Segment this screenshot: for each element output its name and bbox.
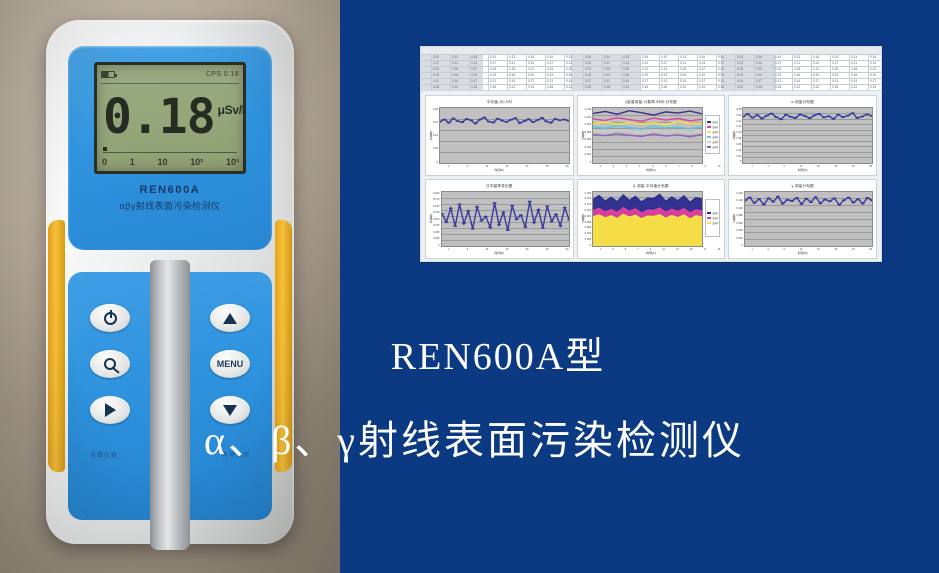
chart-data-point [523, 226, 527, 228]
spreadsheet-cell: 0.11 [547, 79, 553, 83]
spreadsheet-cell: 0.18 [604, 85, 610, 89]
chart-y-tick: 0.140 [585, 203, 592, 206]
chart-data-point [780, 202, 784, 204]
chart-legend-item: 道址1 [707, 211, 718, 215]
spreadsheet-cell: 0.16 [566, 73, 572, 77]
chart-y-tick: 0.15 [433, 121, 438, 124]
spreadsheet-cell: 0.12 [699, 67, 705, 71]
spreadsheet-cell: 0.14 [870, 61, 876, 65]
chart-data-point [851, 201, 855, 203]
chart-data-point [809, 201, 813, 203]
spreadsheet-row-line [421, 90, 881, 91]
spreadsheet-cell: 0.12 [737, 85, 743, 89]
chart-data-point [827, 115, 831, 117]
chart-data-point [487, 121, 491, 123]
chart-data-point [482, 117, 486, 119]
chart-legend-swatch [707, 126, 711, 129]
spreadsheet-cell: 0.18 [623, 67, 629, 71]
spreadsheet-cell: 0.13 [718, 73, 724, 77]
spreadsheet-cell: 0.17 [471, 79, 477, 83]
chart-data-point [491, 122, 495, 124]
chart-data-point [549, 122, 553, 124]
spreadsheet-cell: 0.16 [509, 73, 515, 77]
spreadsheet-cell: 0.10 [699, 73, 705, 77]
chart-data-point [444, 221, 448, 223]
spreadsheet-cell: 0.12 [452, 85, 458, 89]
spreadsheet-cell: 0.16 [623, 73, 629, 77]
spreadsheet-cell: 0.12 [756, 67, 762, 71]
spreadsheet-cell: 0.10 [528, 73, 534, 77]
chart-y-tick: 0.20 [433, 108, 438, 111]
spreadsheet-cell: 0.10 [585, 73, 591, 77]
chart-data-point [798, 113, 802, 115]
spreadsheet-cell: 0.16 [680, 73, 686, 77]
chart-data-point [818, 113, 822, 115]
spreadsheet-cell: 0.11 [433, 79, 439, 83]
spreadsheet-cell: 0.13 [775, 73, 781, 77]
chart-data-point [527, 200, 531, 202]
spreadsheet-cell: 0.12 [642, 67, 648, 71]
spreadsheet-cell: 0.13 [623, 55, 629, 59]
spreadsheet-cell: 0.11 [737, 61, 743, 65]
spreadsheet-cell: 0.17 [813, 79, 819, 83]
chart-y-axis-label: 计数率 [731, 214, 736, 223]
chart-panel[interactable]: 日剂量率变化图剂量率0.2000.1750.1500.1250.1000.075… [425, 179, 574, 260]
spreadsheet-cell: 0.18 [718, 85, 724, 89]
spreadsheet-cell: 0.15 [718, 67, 724, 71]
chart-data-point [518, 122, 522, 124]
spreadsheet-cell: 0.15 [661, 67, 667, 71]
software-screenshot: 0.100.130.160.100.130.160.100.130.160.10… [420, 46, 882, 262]
spreadsheet-cell: 0.10 [471, 73, 477, 77]
spreadsheet-cell: 0.15 [490, 67, 496, 71]
chart-legend-label: 道址1 [712, 120, 718, 124]
chart-data-point [536, 208, 540, 210]
spreadsheet-cell: 0.15 [699, 85, 705, 89]
chart-y-tick: 0.10 [433, 134, 438, 137]
chart-panel-title: α-测量分布图 [729, 96, 876, 105]
chart-data-point [856, 117, 860, 119]
spreadsheet-cell: 0.14 [566, 79, 572, 83]
spreadsheet-cell: 0.16 [813, 55, 819, 59]
spreadsheet-cell: 0.16 [737, 73, 743, 77]
chart-data-point [544, 120, 548, 122]
chart-y-tick: 0.080 [585, 221, 592, 224]
chart-y-tick: 0 [433, 244, 440, 247]
chart-y-axis-ticks: 0.1400.1200.1000.0800.0600.0400.0200 [585, 107, 593, 164]
spreadsheet-cell: 0.11 [794, 61, 800, 65]
chart-data-point [448, 207, 452, 209]
spreadsheet-cell: 0.12 [851, 85, 857, 89]
spreadsheet-header-table: 0.100.130.160.100.130.160.100.130.160.10… [421, 47, 881, 91]
chart-data-point [842, 199, 846, 201]
spreadsheet-cell: 0.16 [699, 55, 705, 59]
chart-panel[interactable]: 平均值-月/小时剂量率0.200.150.100.050151015202530… [425, 95, 574, 176]
chart-panel-title: γ能谱测量-计数率-时间-分布图 [578, 96, 725, 105]
spreadsheet-cell: 0.12 [566, 85, 572, 89]
chart-data-point [447, 122, 451, 124]
chart-y-tick: 0.020 [585, 238, 592, 241]
spreadsheet-cell: 0.18 [737, 67, 743, 71]
spreadsheet-cell: 0.10 [604, 55, 610, 59]
chart-data-point [784, 114, 788, 116]
chart-area-series [593, 214, 702, 246]
chart-data-point [752, 202, 756, 204]
spreadsheet-cell: 0.14 [794, 79, 800, 83]
chart-data-point [832, 118, 836, 120]
chart-legend-label: 道址5 [712, 140, 718, 144]
chart-y-tick: 0.060 [585, 226, 592, 229]
chart-data-point [442, 212, 444, 214]
chart-plot-area [742, 107, 873, 164]
chart-y-tick: 0.02 [736, 155, 741, 158]
chart-y-axis-ticks: 0.1800.1600.1400.1200.1000.0800.0600.040… [585, 191, 593, 248]
chart-data-point [483, 215, 487, 217]
chart-legend: 道址1道址2道址3道址4道址5道址6 [705, 115, 720, 154]
spreadsheet-cell: 0.12 [794, 85, 800, 89]
chart-data-point [514, 218, 518, 220]
spreadsheet-cell: 0.13 [566, 55, 572, 59]
chart-y-tick: 0.14 [736, 120, 741, 123]
spreadsheet-cell: 0.16 [870, 55, 876, 59]
chart-data-point [813, 114, 817, 116]
chart-panel[interactable]: β-测量-平均值分布图计数率0.1800.1600.1400.1200.1000… [577, 179, 726, 260]
chart-y-axis-label: 剂量率 [428, 214, 433, 223]
chart-y-tick: 0.140 [585, 108, 592, 111]
spreadsheet-cell: 0.12 [528, 67, 534, 71]
chart-panel[interactable]: α-测量分布图计数率0.180.160.140.120.100.080.060.… [728, 95, 877, 176]
chart-data-point [473, 123, 477, 125]
chart-data-point [770, 113, 774, 115]
chart-y-tick: 0.180 [585, 192, 592, 195]
chart-x-axis-label: 时间(h) [578, 251, 725, 258]
chart-data-point [790, 200, 794, 202]
chart-data-point [828, 200, 832, 202]
chart-series-svg [442, 192, 569, 247]
spreadsheet-cell: 0.16 [585, 55, 591, 59]
chart-data-point [469, 119, 473, 121]
chart-data-point [475, 206, 479, 208]
device-handle [150, 260, 190, 550]
chart-data-point [562, 206, 566, 208]
chart-data-point [746, 113, 750, 115]
chart-legend-item: 道址3 [707, 130, 718, 134]
spreadsheet-cell: 0.16 [471, 55, 477, 59]
chart-data-point [751, 117, 755, 119]
spreadsheet-cell: 0.12 [509, 85, 515, 89]
chart-data-point [837, 203, 841, 205]
chart-data-point [747, 196, 751, 198]
spreadsheet-cell: 0.17 [528, 79, 534, 83]
chart-data-point [505, 121, 509, 123]
chart-legend-label: 道址3 [712, 221, 718, 225]
spreadsheet-cell: 0.18 [566, 67, 572, 71]
spreadsheet-cell: 0.13 [547, 73, 553, 77]
chart-data-point [804, 197, 808, 199]
chart-data-point [771, 200, 775, 202]
chart-panel-body: 计数率0.1400.1200.1000.0800.0600.0400.0200道… [578, 105, 725, 165]
chart-line-series [593, 134, 702, 137]
spreadsheet-cell: 0.17 [756, 79, 762, 83]
chart-legend-label: 道址3 [712, 130, 718, 134]
spreadsheet-cell: 0.14 [471, 61, 477, 65]
chart-data-point [509, 119, 513, 121]
chart-y-tick: 0.120 [736, 199, 743, 202]
chart-data-point [453, 225, 457, 227]
chart-line-series [593, 118, 702, 122]
spreadsheet-cell: 0.14 [756, 61, 762, 65]
spreadsheet-cell: 0.11 [680, 61, 686, 65]
chart-y-tick: 0.100 [585, 123, 592, 126]
chart-data-point [846, 115, 850, 117]
spreadsheet-cell: 0.10 [775, 55, 781, 59]
spreadsheet-cell: 0.11 [509, 61, 515, 65]
spreadsheet-cell: 0.15 [775, 67, 781, 71]
chart-data-point [775, 116, 779, 118]
chart-data-point [841, 116, 845, 118]
chart-y-tick: 0.120 [585, 209, 592, 212]
spreadsheet-cell: 0.15 [604, 67, 610, 71]
spreadsheet-cell: 0.17 [699, 79, 705, 83]
spreadsheet-cell: 0.18 [490, 85, 496, 89]
chart-data-point [808, 117, 812, 119]
chart-y-tick: 0.175 [433, 198, 440, 201]
chart-data-point [837, 114, 841, 116]
chart-y-tick: 0.050 [433, 231, 440, 234]
chart-data-point [545, 205, 549, 207]
chart-y-tick: 0 [736, 160, 741, 163]
spreadsheet-cell: 0.10 [870, 73, 876, 77]
spreadsheet-cell: 0.13 [509, 55, 515, 59]
chart-data-point [865, 113, 869, 115]
spreadsheet-cell: 0.16 [642, 55, 648, 59]
spreadsheet-cell: 0.14 [699, 61, 705, 65]
chart-data-point [851, 112, 855, 114]
chart-data-point [818, 202, 822, 204]
chart-data-point [496, 118, 500, 120]
spreadsheet-cell: 0.13 [851, 55, 857, 59]
chart-data-point [861, 202, 865, 204]
chart-data-point [501, 211, 505, 213]
chart-data-point [776, 195, 780, 197]
spreadsheet-cell: 0.17 [547, 61, 553, 65]
chart-data-point [799, 203, 803, 205]
spreadsheet-cell: 0.14 [851, 79, 857, 83]
chart-data-point [562, 119, 566, 121]
spreadsheet-cell: 0.17 [718, 61, 724, 65]
spreadsheet-cell: 0.15 [471, 85, 477, 89]
spreadsheet-cell: 0.14 [813, 61, 819, 65]
chart-y-tick: 0.040 [585, 146, 592, 149]
spreadsheet-cell: 0.11 [832, 79, 838, 83]
chart-y-tick: 0.060 [736, 222, 743, 225]
spreadsheet-cell: 0.13 [680, 55, 686, 59]
chart-data-point [451, 117, 455, 119]
chart-y-axis-ticks: 0.1400.1200.1000.0800.0600.0400.0200 [736, 191, 744, 248]
spreadsheet-cell: 0.17 [433, 61, 439, 65]
chart-legend-label: 道址1 [712, 211, 718, 215]
chart-data-point [757, 198, 761, 200]
spreadsheet-cell: 0.16 [851, 73, 857, 77]
chart-data-point [500, 120, 504, 122]
chart-data-point [513, 117, 517, 119]
chart-data-point [461, 222, 465, 224]
chart-plot-area [592, 191, 703, 248]
chart-data-point [860, 116, 864, 118]
chart-data-point [553, 118, 557, 120]
chart-y-tick: 0.06 [736, 143, 741, 146]
spreadsheet-cell: 0.15 [585, 85, 591, 89]
spreadsheet-cell: 0.14 [642, 61, 648, 65]
chart-panel[interactable]: γ-测量分布图计数率0.1400.1200.1000.0800.0600.040… [728, 179, 877, 260]
spreadsheet-cell: 0.13 [661, 73, 667, 77]
chart-y-tick: 0.060 [585, 138, 592, 141]
spreadsheet-cell: 0.18 [680, 67, 686, 71]
spreadsheet-cell: 0.18 [433, 85, 439, 89]
chart-y-tick: 0.125 [433, 211, 440, 214]
spreadsheet-cell: 0.17 [585, 79, 591, 83]
chart-data-point [558, 119, 562, 121]
chart-y-tick: 0.140 [736, 192, 743, 195]
chart-data-point [766, 197, 770, 199]
chart-legend-item: 道址2 [707, 125, 718, 129]
spreadsheet-cell: 0.17 [870, 79, 876, 83]
spreadsheet-cell: 0.18 [661, 85, 667, 89]
spreadsheet-cell: 0.18 [851, 67, 857, 71]
spreadsheet-cell: 0.10 [433, 55, 439, 59]
chart-legend-item: 道址2 [707, 216, 718, 220]
chart-y-tick: 0.040 [585, 232, 592, 235]
chart-data-point [479, 219, 483, 221]
spreadsheet-cell: 0.15 [547, 67, 553, 71]
spreadsheet-cell: 0.18 [794, 67, 800, 71]
chart-y-tick: 0.16 [736, 114, 741, 117]
spreadsheet-cell: 0.11 [452, 61, 458, 65]
spreadsheet-cell: 0.10 [756, 73, 762, 77]
chart-y-tick: 0.040 [736, 229, 743, 232]
chart-y-tick: 0.18 [736, 108, 741, 111]
chart-data-point [540, 227, 544, 229]
chart-data-point [496, 223, 500, 225]
spreadsheet-cell: 0.18 [775, 85, 781, 89]
chart-data-point [532, 221, 536, 223]
chart-y-tick: 0.080 [736, 214, 743, 217]
spreadsheet-cell: 0.11 [623, 61, 629, 65]
spreadsheet-cell: 0.15 [433, 67, 439, 71]
chart-data-point [779, 118, 783, 120]
chart-data-point [553, 213, 557, 215]
chart-data-point [510, 204, 514, 206]
chart-legend-swatch [707, 121, 711, 124]
spreadsheet-cell: 0.12 [623, 85, 629, 89]
chart-legend-swatch [707, 217, 711, 220]
spreadsheet-cell: 0.16 [794, 73, 800, 77]
chart-data-point [505, 229, 509, 231]
spreadsheet-cell: 0.11 [661, 79, 667, 83]
chart-y-tick: 0.100 [585, 215, 592, 218]
chart-data-point [822, 117, 826, 119]
chart-panel-title: 日剂量率变化图 [426, 180, 573, 189]
spreadsheet-cell: 0.13 [452, 55, 458, 59]
chart-legend-swatch [707, 222, 711, 225]
spreadsheet-cell: 0.11 [490, 79, 496, 83]
chart-panel[interactable]: γ能谱测量-计数率-时间-分布图计数率0.1400.1200.1000.0800… [577, 95, 726, 176]
chart-line-series [593, 130, 702, 133]
spreadsheet-cell: 0.14 [528, 61, 534, 65]
chart-line-series [593, 111, 702, 115]
spreadsheet-cell: 0.16 [452, 73, 458, 77]
product-photo: CPS 0.18 0.18 μSv/h 0 1 10 10² [0, 0, 340, 573]
chart-data-point [456, 120, 460, 122]
chart-data-point [536, 119, 540, 121]
chart-y-tick: 0.10 [736, 131, 741, 134]
chart-data-point [470, 227, 474, 229]
spreadsheet-cell: 0.17 [775, 61, 781, 65]
chart-data-point [540, 117, 544, 119]
chart-legend-item: 道址4 [707, 135, 718, 139]
chart-data-point [558, 224, 562, 226]
spreadsheet-cell: 0.18 [452, 67, 458, 71]
spreadsheet-cell: 0.10 [718, 55, 724, 59]
chart-y-tick: 0 [433, 161, 438, 164]
spreadsheet-cell: 0.12 [870, 67, 876, 71]
spreadsheet-cell: 0.14 [585, 61, 591, 65]
spreadsheet-cell: 0.14 [509, 79, 515, 83]
chart-y-tick: 0.080 [585, 131, 592, 134]
chart-legend-label: 道址4 [712, 135, 718, 139]
chart-legend-item: 道址6 [707, 145, 718, 149]
chart-series-svg [440, 108, 569, 163]
chart-data-point [803, 115, 807, 117]
chart-plot-area [592, 107, 703, 164]
chart-y-tick: 0.100 [736, 207, 743, 210]
chart-legend-label: 道址6 [712, 145, 718, 149]
chart-legend-swatch [707, 131, 711, 134]
spreadsheet-cell: 0.10 [490, 55, 496, 59]
spreadsheet-cell: 0.14 [623, 79, 629, 83]
spreadsheet-cell: 0.18 [832, 85, 838, 89]
spreadsheet-cell: 0.15 [832, 67, 838, 71]
chart-data-point [865, 196, 869, 198]
chart-y-axis-label: 剂量率 [428, 131, 433, 140]
spreadsheet-cell: 0.10 [547, 55, 553, 59]
chart-y-tick: 0 [585, 161, 592, 164]
spreadsheet-cell: 0.17 [661, 61, 667, 65]
chart-y-tick: 0.08 [736, 137, 741, 140]
chart-series-svg [593, 192, 702, 247]
chart-y-tick: 0.04 [736, 149, 741, 152]
chart-data-point [460, 121, 464, 123]
chart-y-tick: 0.150 [433, 205, 440, 208]
chart-panel-body: 剂量率0.2000.1750.1500.1250.1000.0750.0500.… [426, 189, 573, 249]
chart-line-series [442, 201, 569, 230]
chart-panel-body: 剂量率0.200.150.100.050 [426, 105, 573, 165]
chart-legend-swatch [707, 136, 711, 139]
spreadsheet-cell: 0.13 [794, 55, 800, 59]
chart-data-point [522, 120, 526, 122]
chart-data-point [762, 203, 766, 205]
chart-data-point [527, 118, 531, 120]
chart-data-point [531, 121, 535, 123]
chart-line-series [593, 126, 702, 129]
chart-data-point [756, 114, 760, 116]
spreadsheet-cell: 0.12 [680, 85, 686, 89]
spreadsheet-cell: 0.15 [528, 85, 534, 89]
chart-data-point [760, 118, 764, 120]
chart-panel-grid: 平均值-月/小时剂量率0.200.150.100.050151015202530… [421, 91, 881, 262]
spreadsheet-column-header-row [421, 47, 881, 54]
spreadsheet-cell: 0.10 [832, 55, 838, 59]
